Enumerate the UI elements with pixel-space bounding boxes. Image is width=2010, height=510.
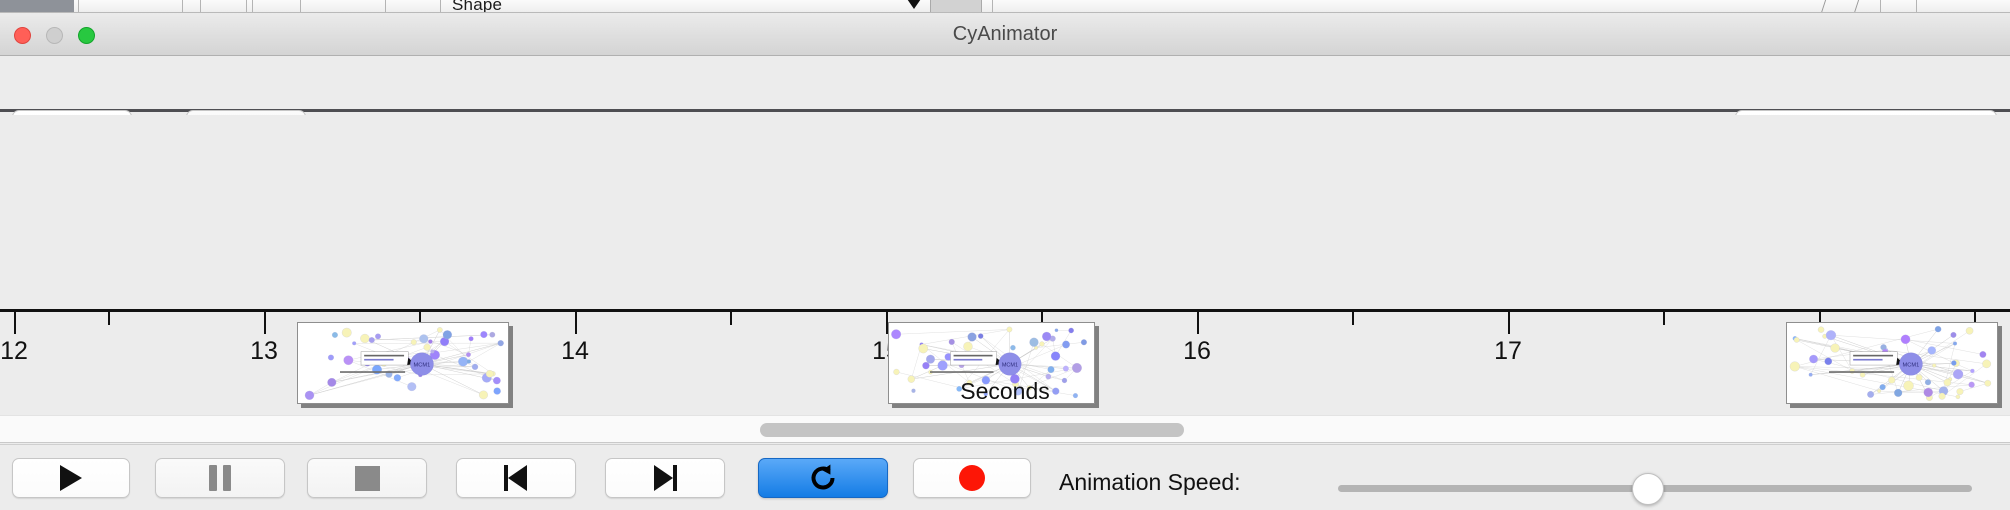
timeline-minor-tick <box>1663 312 1665 325</box>
toolbar: Clear All Frames <box>0 56 2010 112</box>
stop-icon <box>355 466 380 491</box>
record-button[interactable] <box>913 458 1031 498</box>
timeline-tick-label: 14 <box>561 337 589 366</box>
axis-caption: Seconds <box>0 378 2010 405</box>
loop-icon <box>808 463 838 493</box>
pause-button[interactable] <box>155 458 285 498</box>
timeline-tick-label: 13 <box>250 337 278 366</box>
pause-icon <box>209 465 231 491</box>
title-bar: CyAnimator <box>0 13 2010 56</box>
timeline-panel[interactable]: 12131415161718 MCM1MCM1MCM1 Seconds <box>0 115 2010 415</box>
svg-text:MCM1: MCM1 <box>1002 362 1018 368</box>
timeline-major-tick <box>264 312 266 334</box>
animation-speed-label: Animation Speed: <box>1059 469 1241 496</box>
play-button[interactable] <box>12 458 130 498</box>
scrollbar-thumb[interactable] <box>760 423 1184 437</box>
background-cursor-icon <box>905 0 923 9</box>
timeline-major-tick <box>575 312 577 334</box>
skip-next-icon <box>653 465 677 491</box>
cyanimator-window: Shape CyAnimator Clear All Frames <box>0 0 2010 510</box>
timeline-major-tick <box>1508 312 1510 334</box>
timeline-tick-label: 12 <box>0 337 28 366</box>
window-title: CyAnimator <box>0 13 2010 56</box>
timeline-tick-label: 16 <box>1183 337 1211 366</box>
timeline-major-tick <box>14 312 16 334</box>
loop-button[interactable] <box>758 458 888 498</box>
skip-to-start-button[interactable] <box>456 458 576 498</box>
animation-speed-slider-thumb[interactable] <box>1632 473 1664 505</box>
record-icon <box>959 465 985 491</box>
timeline-scrollbar[interactable] <box>0 415 2010 443</box>
play-icon <box>60 465 82 491</box>
timeline-minor-tick <box>730 312 732 325</box>
timeline-minor-tick <box>108 312 110 325</box>
stop-button[interactable] <box>307 458 427 498</box>
timeline-axis <box>0 309 2010 312</box>
timeline-minor-tick <box>1352 312 1354 325</box>
timeline-tick-label: 17 <box>1494 337 1522 366</box>
timeline-major-tick <box>1197 312 1199 334</box>
background-window-strip: Shape <box>0 0 2010 13</box>
skip-previous-icon <box>504 465 528 491</box>
playback-control-bar: Animation Speed: <box>0 444 2010 510</box>
svg-text:MCM1: MCM1 <box>414 362 431 368</box>
svg-text:MCM1: MCM1 <box>1903 362 1920 368</box>
background-window-label: Shape <box>452 0 502 13</box>
skip-to-end-button[interactable] <box>605 458 725 498</box>
